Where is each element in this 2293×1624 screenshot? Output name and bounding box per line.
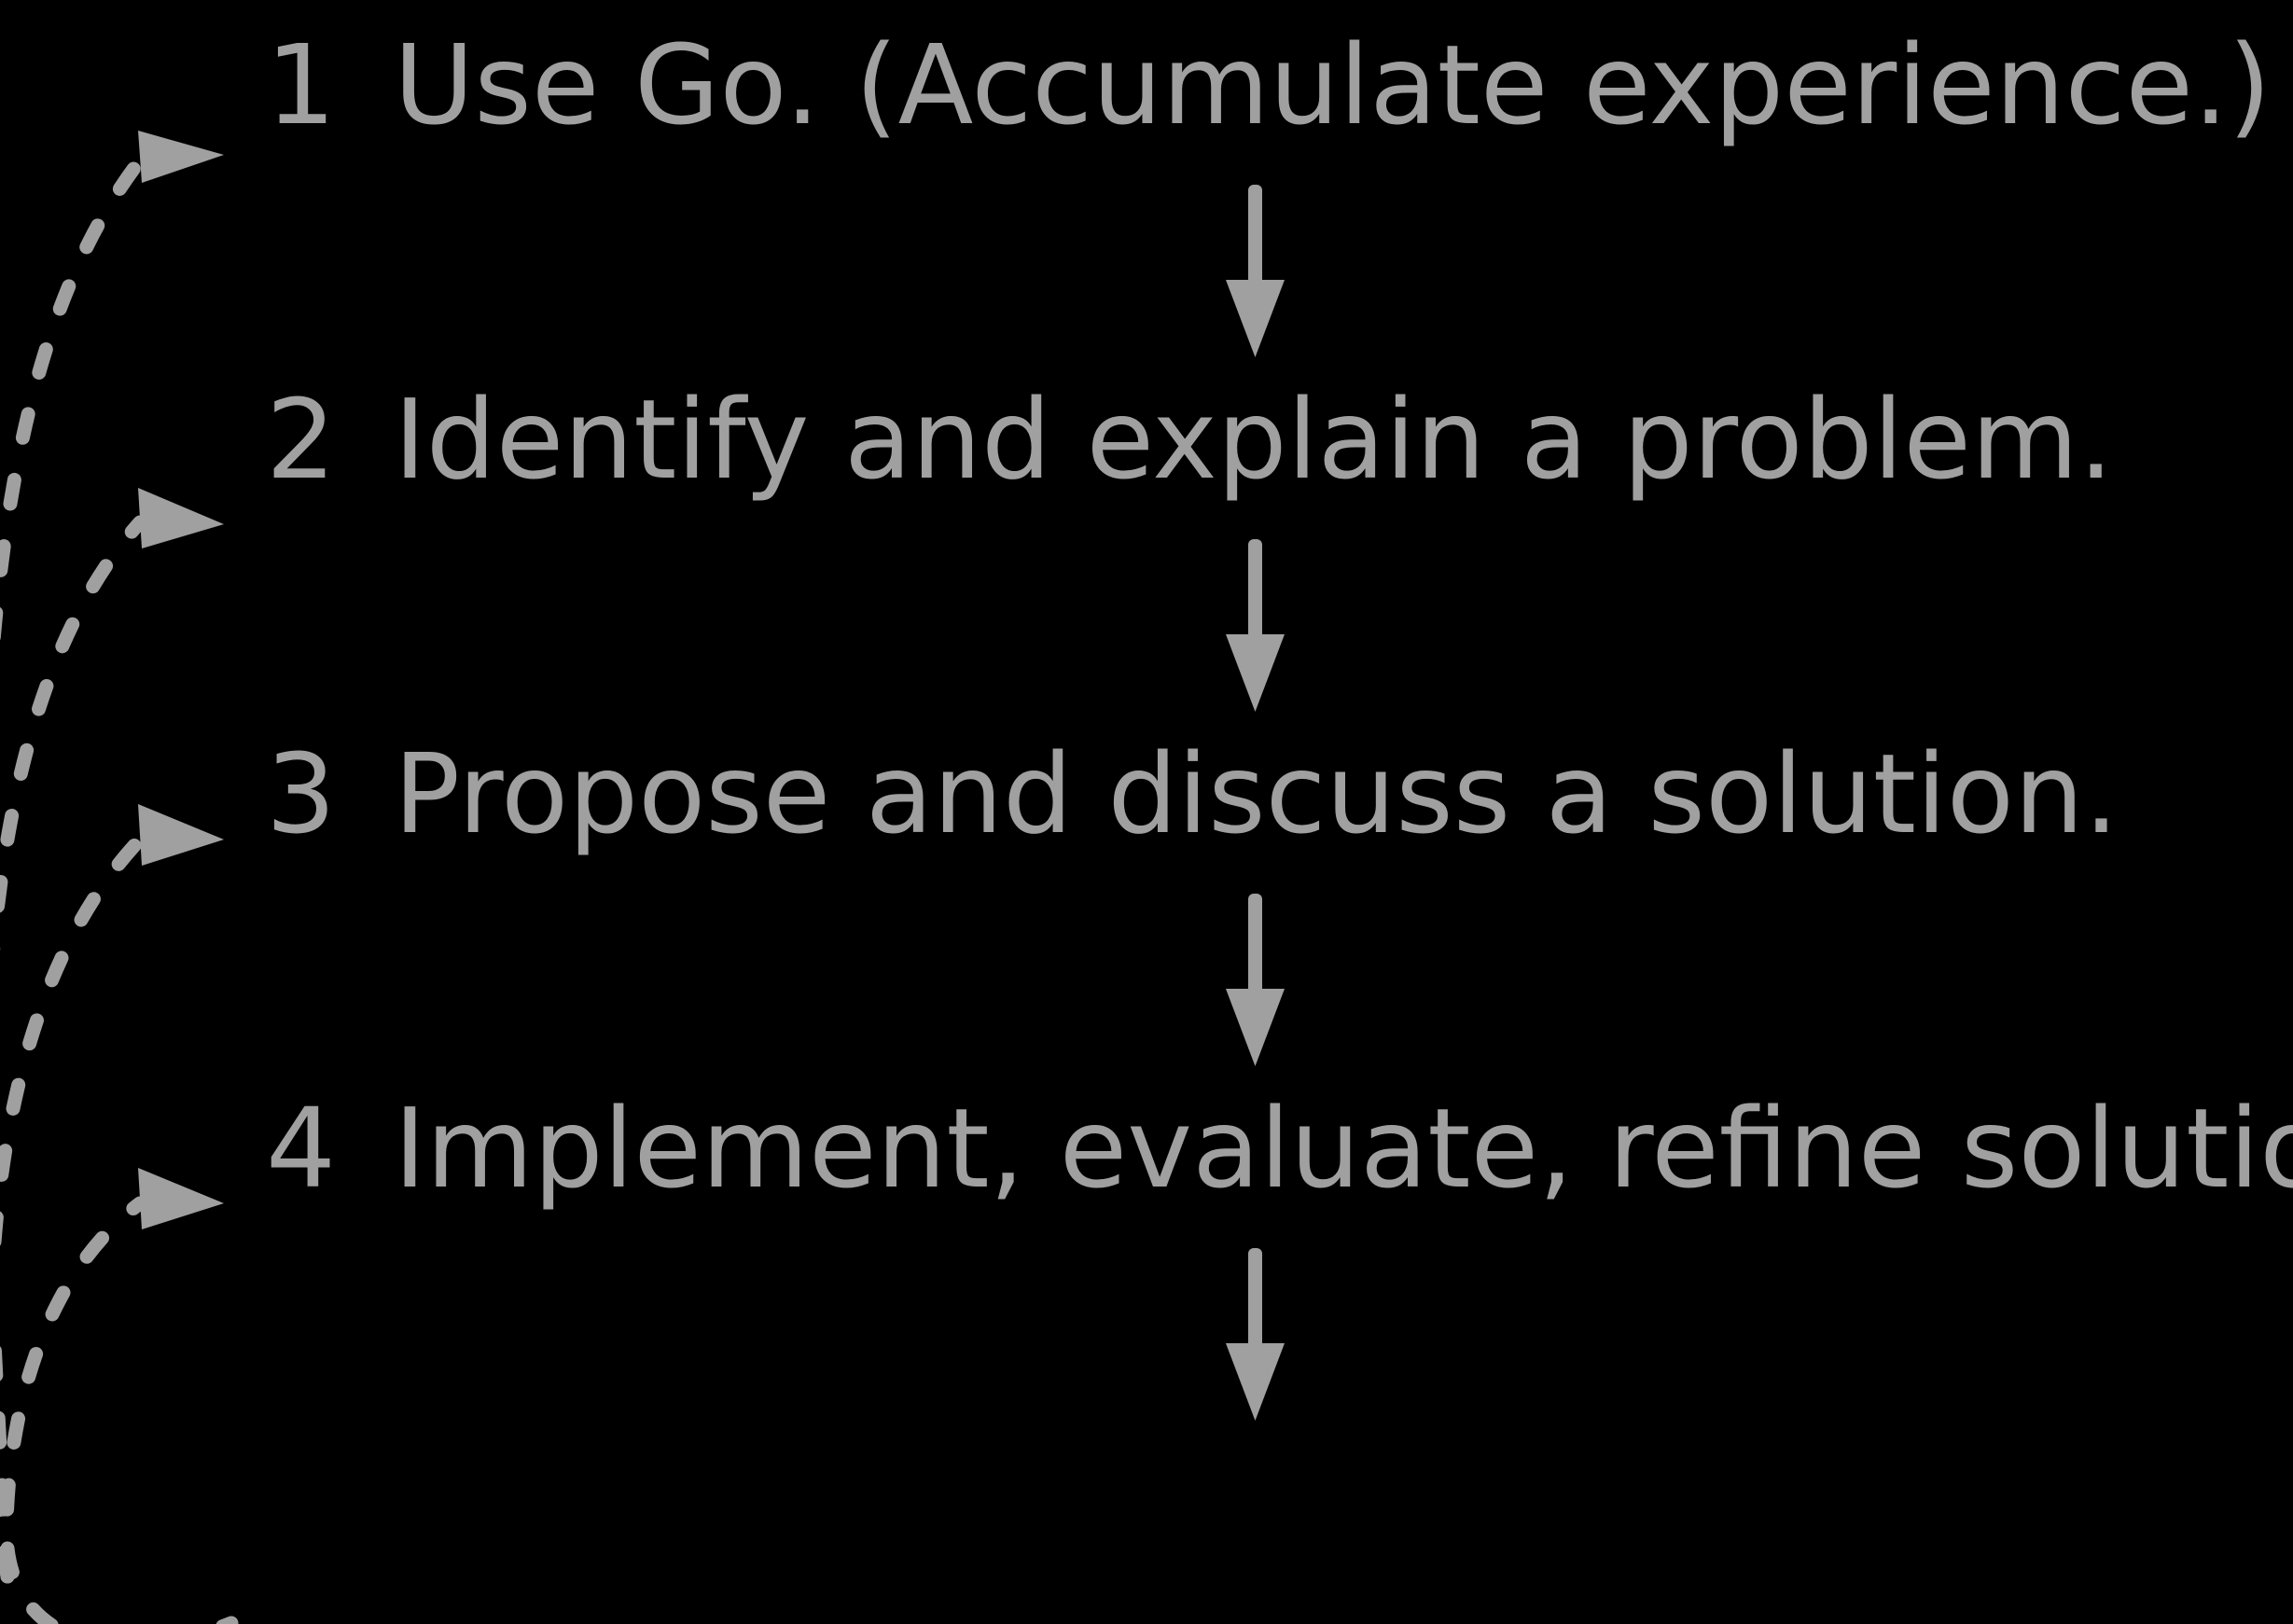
down-arrow-4 <box>1226 1248 1285 1421</box>
step-number: 1 <box>266 24 368 146</box>
step-row: 2 Identify and explain a problem. <box>0 379 2293 500</box>
diagram-canvas: 1 Use Go. (Accumulate experience.) 2 Ide… <box>0 0 2293 1624</box>
step-row: 3 Propose and discuss a solution. <box>0 733 2293 854</box>
feedback-loop-tail <box>7 1548 231 1624</box>
step-number: 4 <box>266 1088 368 1209</box>
step-label: Identify and explain a problem. <box>394 379 2113 500</box>
step-row: 1 Use Go. (Accumulate experience.) <box>0 24 2293 146</box>
step-number: 2 <box>266 379 368 500</box>
step-label: Use Go. (Accumulate experience.) <box>394 24 2272 146</box>
down-arrow-1 <box>1226 185 1285 357</box>
down-arrow-3 <box>1226 894 1285 1066</box>
step-row: 4 Implement, evaluate, refine solution. <box>0 1088 2293 1209</box>
down-arrow-2 <box>1226 539 1285 712</box>
step-label: Propose and discuss a solution. <box>394 733 2119 854</box>
step-number: 3 <box>266 733 368 854</box>
feedback-loop-4 <box>7 1168 224 1576</box>
step-label: Implement, evaluate, refine solution. <box>394 1088 2293 1209</box>
